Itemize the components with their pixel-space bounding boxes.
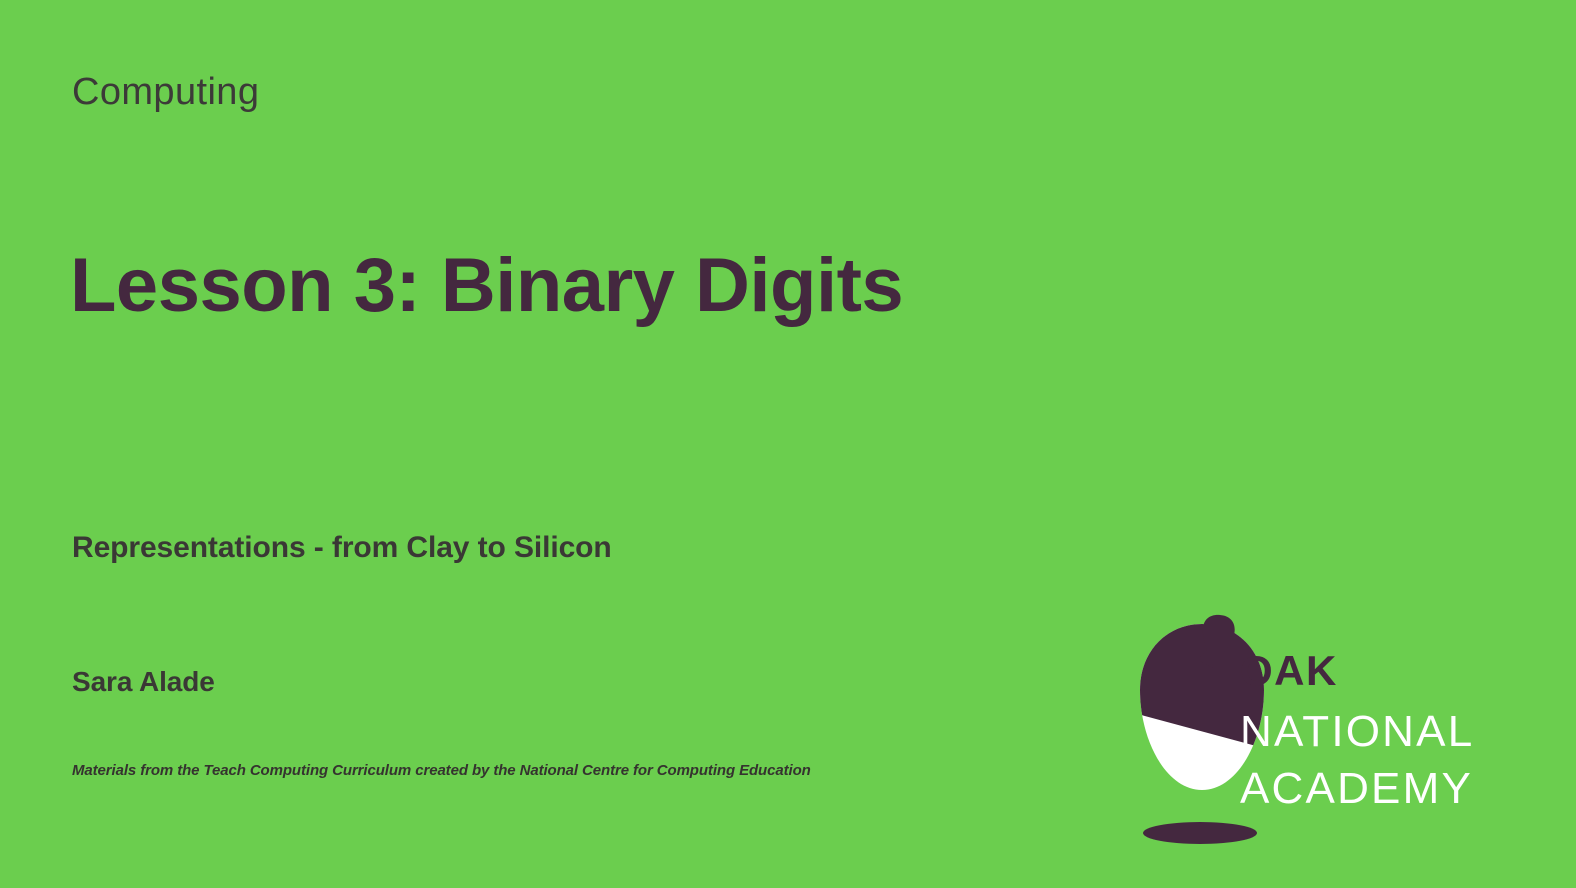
wordmark-line-oak: OAK: [1240, 650, 1520, 692]
wordmark-line-academy: ACADEMY: [1240, 763, 1520, 814]
title-slide: Computing Lesson 3: Binary Digits Repres…: [0, 0, 1576, 888]
unit-subtitle: Representations - from Clay to Silicon: [72, 531, 612, 566]
oak-logo-wordmark: OAK NATIONAL ACADEMY: [1240, 650, 1520, 814]
wordmark-line-national: NATIONAL: [1240, 706, 1520, 757]
acorn-shadow: [1143, 822, 1257, 844]
page-title: Lesson 3: Binary Digits: [70, 246, 903, 326]
subject-label: Computing: [72, 72, 259, 114]
author-name: Sara Alade: [72, 666, 215, 698]
attribution-text: Materials from the Teach Computing Curri…: [72, 762, 811, 780]
